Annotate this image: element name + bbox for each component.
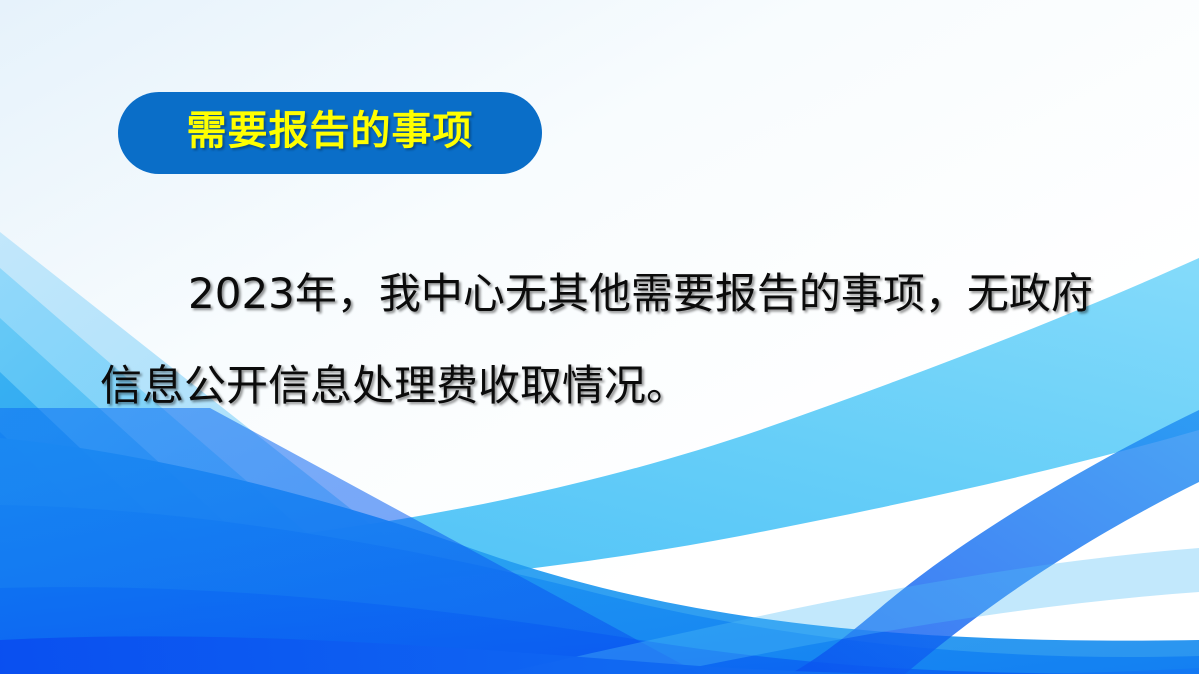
- body-line-1: 2023年，我中心无其他需要报告的事项，无政府: [100, 248, 1120, 340]
- section-title-pill: 需要报告的事项: [118, 92, 542, 174]
- body-line-2: 信息公开信息处理费收取情况。: [100, 340, 1120, 432]
- presentation-slide: 需要报告的事项 2023年，我中心无其他需要报告的事项，无政府 信息公开信息处理…: [0, 0, 1199, 674]
- section-title-text: 需要报告的事项: [187, 111, 474, 151]
- body-paragraph: 2023年，我中心无其他需要报告的事项，无政府 信息公开信息处理费收取情况。: [100, 248, 1120, 432]
